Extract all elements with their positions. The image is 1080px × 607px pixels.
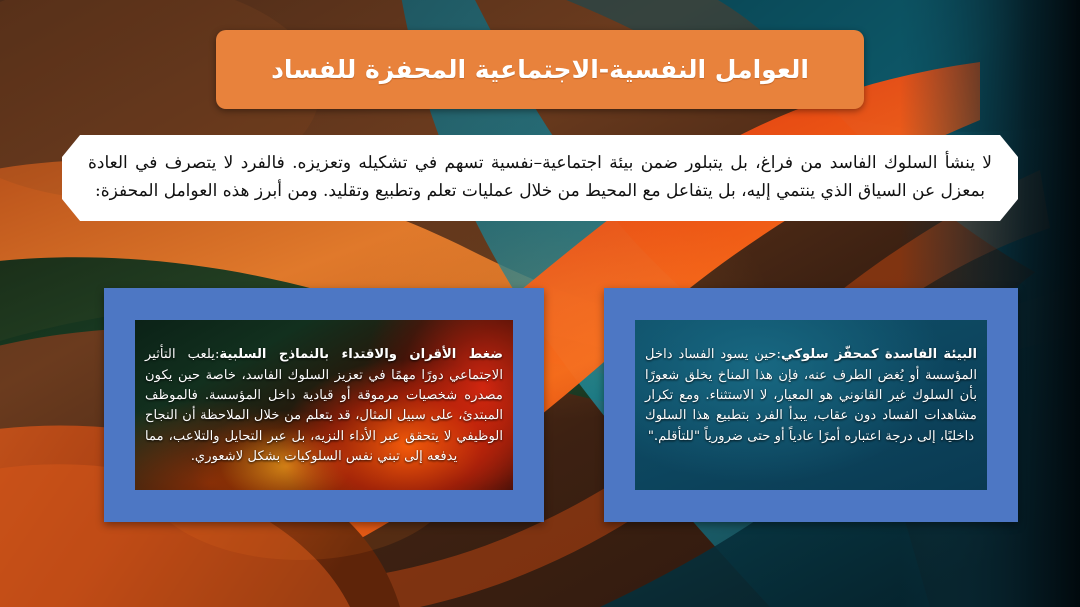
corrupt-environment-card: البيئة الفاسدة كمحفّز سلوكي:حين يسود الف… — [604, 288, 1018, 522]
peer-pressure-card: ضغط الأقران والاقتداء بالنماذج السلبية:ي… — [104, 288, 544, 522]
intro-panel: لا ينشأ السلوك الفاسد من فراغ، بل يتبلور… — [62, 135, 1018, 221]
peer-pressure-card-lead: ضغط الأقران والاقتداء بالنماذج السلبية — [219, 347, 503, 362]
corrupt-environment-card-lead: البيئة الفاسدة كمحفّز سلوكي — [781, 347, 977, 362]
intro-paragraph: لا ينشأ السلوك الفاسد من فراغ، بل يتبلور… — [62, 150, 1018, 205]
corrupt-environment-card-inner: البيئة الفاسدة كمحفّز سلوكي:حين يسود الف… — [635, 320, 987, 490]
corrupt-environment-card-text: البيئة الفاسدة كمحفّز سلوكي:حين يسود الف… — [635, 333, 987, 447]
peer-pressure-card-body: :يلعب التأثير الاجتماعي دورًا مهمًا في ت… — [145, 347, 503, 464]
peer-pressure-card-inner: ضغط الأقران والاقتداء بالنماذج السلبية:ي… — [135, 320, 513, 490]
slide-title-plaque: العوامل النفسية-الاجتماعية المحفزة للفسا… — [216, 30, 864, 109]
peer-pressure-card-text: ضغط الأقران والاقتداء بالنماذج السلبية:ي… — [135, 333, 513, 467]
page-title: العوامل النفسية-الاجتماعية المحفزة للفسا… — [251, 55, 829, 85]
presentation-slide: العوامل النفسية-الاجتماعية المحفزة للفسا… — [0, 0, 1080, 607]
